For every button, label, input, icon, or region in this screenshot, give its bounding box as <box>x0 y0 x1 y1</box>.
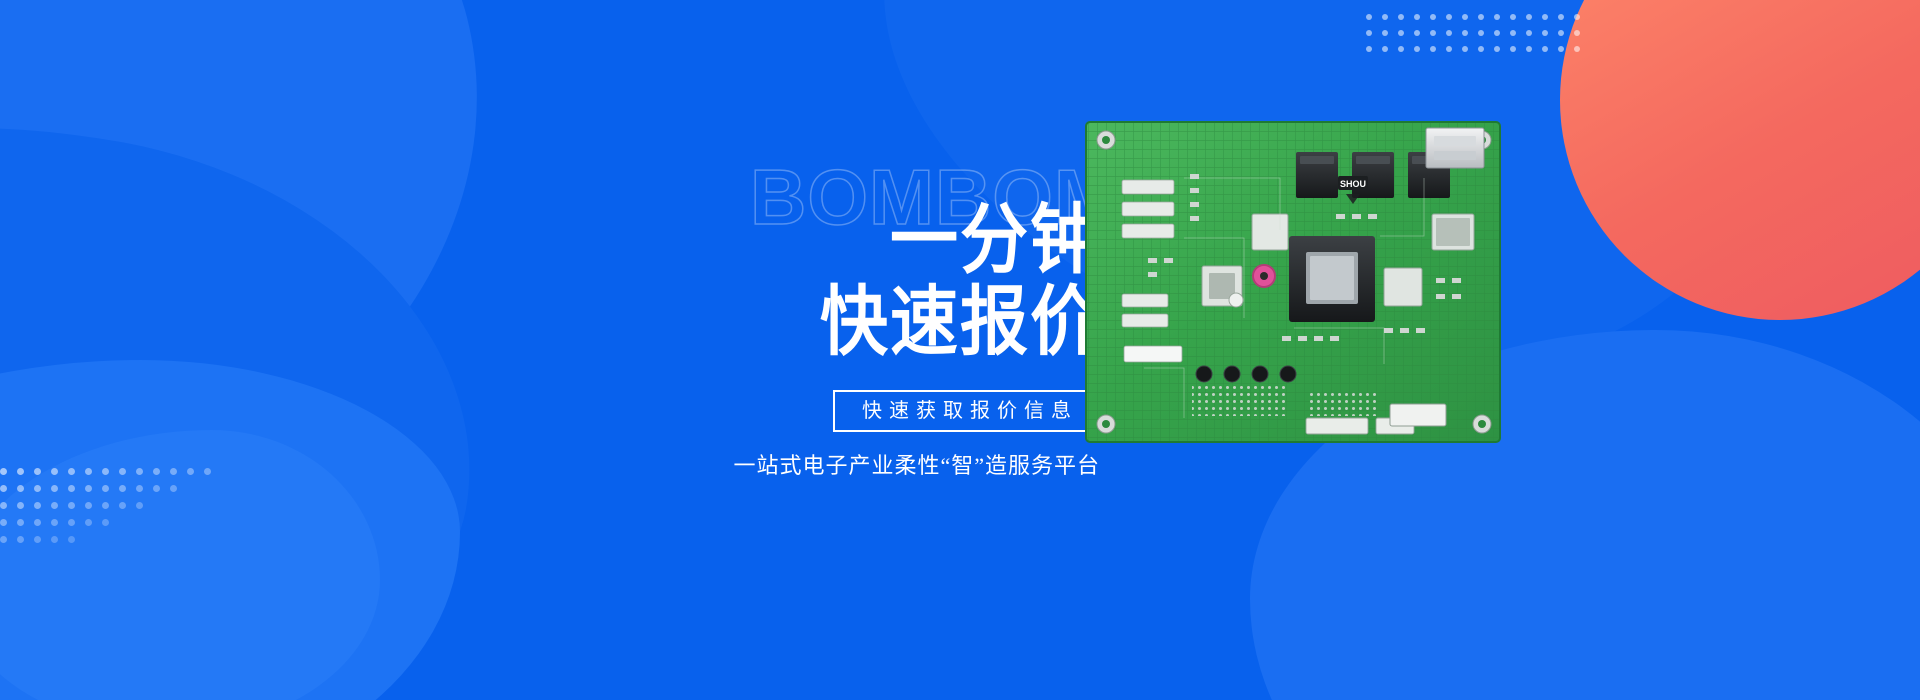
grid-dot <box>1430 30 1436 36</box>
grid-dot <box>1574 30 1580 36</box>
grid-dot <box>1366 30 1372 36</box>
grid-dot <box>1462 14 1468 20</box>
grid-dot <box>1398 46 1404 52</box>
grid-dot <box>85 468 92 475</box>
grid-dot <box>34 502 41 509</box>
grid-dot <box>1382 30 1388 36</box>
grid-dot <box>1574 14 1580 20</box>
grid-dot <box>1510 14 1516 20</box>
headline-line-2: 快速报价 <box>640 282 1100 363</box>
grid-dot <box>119 502 126 509</box>
promo-banner: BOMBOM 一分钟 快速报价 快速获取报价信息 一站式电子产业柔性“智”造服务… <box>0 0 1920 700</box>
grid-dot <box>85 485 92 492</box>
grid-dot <box>153 485 160 492</box>
grid-dot <box>1366 46 1372 52</box>
cta-boxed-label[interactable]: 快速获取报价信息 <box>833 390 1100 432</box>
grid-dot <box>51 502 58 509</box>
grid-dot <box>153 468 160 475</box>
grid-dot <box>68 502 75 509</box>
grid-dot <box>1446 30 1452 36</box>
grid-dot <box>1574 46 1580 52</box>
grid-dot <box>34 468 41 475</box>
grid-dot <box>1398 14 1404 20</box>
headline-line-1: 一分钟 <box>640 200 1100 281</box>
grid-dot <box>1430 46 1436 52</box>
grid-dot <box>1542 30 1548 36</box>
grid-dot <box>1558 30 1564 36</box>
grid-dot <box>51 485 58 492</box>
grid-dot <box>1526 14 1532 20</box>
grid-dot <box>1366 14 1372 20</box>
grid-dot <box>34 485 41 492</box>
grid-dot <box>1462 46 1468 52</box>
grid-dot <box>1494 30 1500 36</box>
grid-dot <box>1414 46 1420 52</box>
grid-dot <box>1558 14 1564 20</box>
grid-dot <box>1494 46 1500 52</box>
grid-dot <box>17 536 24 543</box>
grid-dot <box>17 519 24 526</box>
grid-dot <box>204 468 211 475</box>
grid-dot <box>68 519 75 526</box>
grid-dot <box>1430 14 1436 20</box>
grid-dot <box>102 519 109 526</box>
grid-dot <box>1494 14 1500 20</box>
grid-dot <box>17 502 24 509</box>
grid-dot <box>1382 14 1388 20</box>
grid-dot <box>1478 14 1484 20</box>
grid-dot <box>68 536 75 543</box>
grid-dot <box>51 468 58 475</box>
grid-dot <box>68 485 75 492</box>
grid-dot <box>1510 30 1516 36</box>
banner-subtitle: 一站式电子产业柔性“智”造服务平台 <box>640 448 1100 480</box>
grid-dot <box>68 468 75 475</box>
grid-dot <box>85 502 92 509</box>
grid-dot <box>34 536 41 543</box>
dot-grid-top-right <box>1366 14 1590 62</box>
grid-dot <box>1542 14 1548 20</box>
grid-dot <box>119 485 126 492</box>
grid-dot <box>17 485 24 492</box>
grid-dot <box>102 485 109 492</box>
grid-dot <box>170 468 177 475</box>
grid-dot <box>136 468 143 475</box>
grid-dot <box>1398 30 1404 36</box>
grid-dot <box>34 519 41 526</box>
grid-dot <box>51 536 58 543</box>
grid-dot <box>1542 46 1548 52</box>
grid-dot <box>1526 30 1532 36</box>
grid-dot <box>1462 30 1468 36</box>
grid-dot <box>136 485 143 492</box>
grid-dot <box>1478 30 1484 36</box>
grid-dot <box>119 468 126 475</box>
banner-copy: BOMBOM 一分钟 快速报价 快速获取报价信息 一站式电子产业柔性“智”造服务… <box>640 150 1100 480</box>
pcb-silkscreen-label: SHOU <box>1340 179 1366 189</box>
grid-dot <box>0 519 7 526</box>
grid-dot <box>0 536 7 543</box>
grid-dot <box>187 468 194 475</box>
grid-dot <box>102 468 109 475</box>
grid-dot <box>1382 46 1388 52</box>
grid-dot <box>1446 14 1452 20</box>
grid-dot <box>0 468 7 475</box>
grid-dot <box>1446 46 1452 52</box>
grid-dot <box>1526 46 1532 52</box>
grid-dot <box>102 502 109 509</box>
grid-dot <box>1414 14 1420 20</box>
grid-dot <box>136 502 143 509</box>
grid-dot <box>17 468 24 475</box>
grid-dot <box>1558 46 1564 52</box>
grid-dot <box>1510 46 1516 52</box>
grid-dot <box>85 519 92 526</box>
grid-dot <box>170 485 177 492</box>
grid-dot <box>0 502 7 509</box>
grid-dot <box>1478 46 1484 52</box>
grid-dot <box>0 485 7 492</box>
grid-dot <box>1414 30 1420 36</box>
grid-dot <box>51 519 58 526</box>
dot-grid-bottom-left <box>0 468 272 553</box>
pcb-board-image: SHOU <box>1084 118 1504 458</box>
